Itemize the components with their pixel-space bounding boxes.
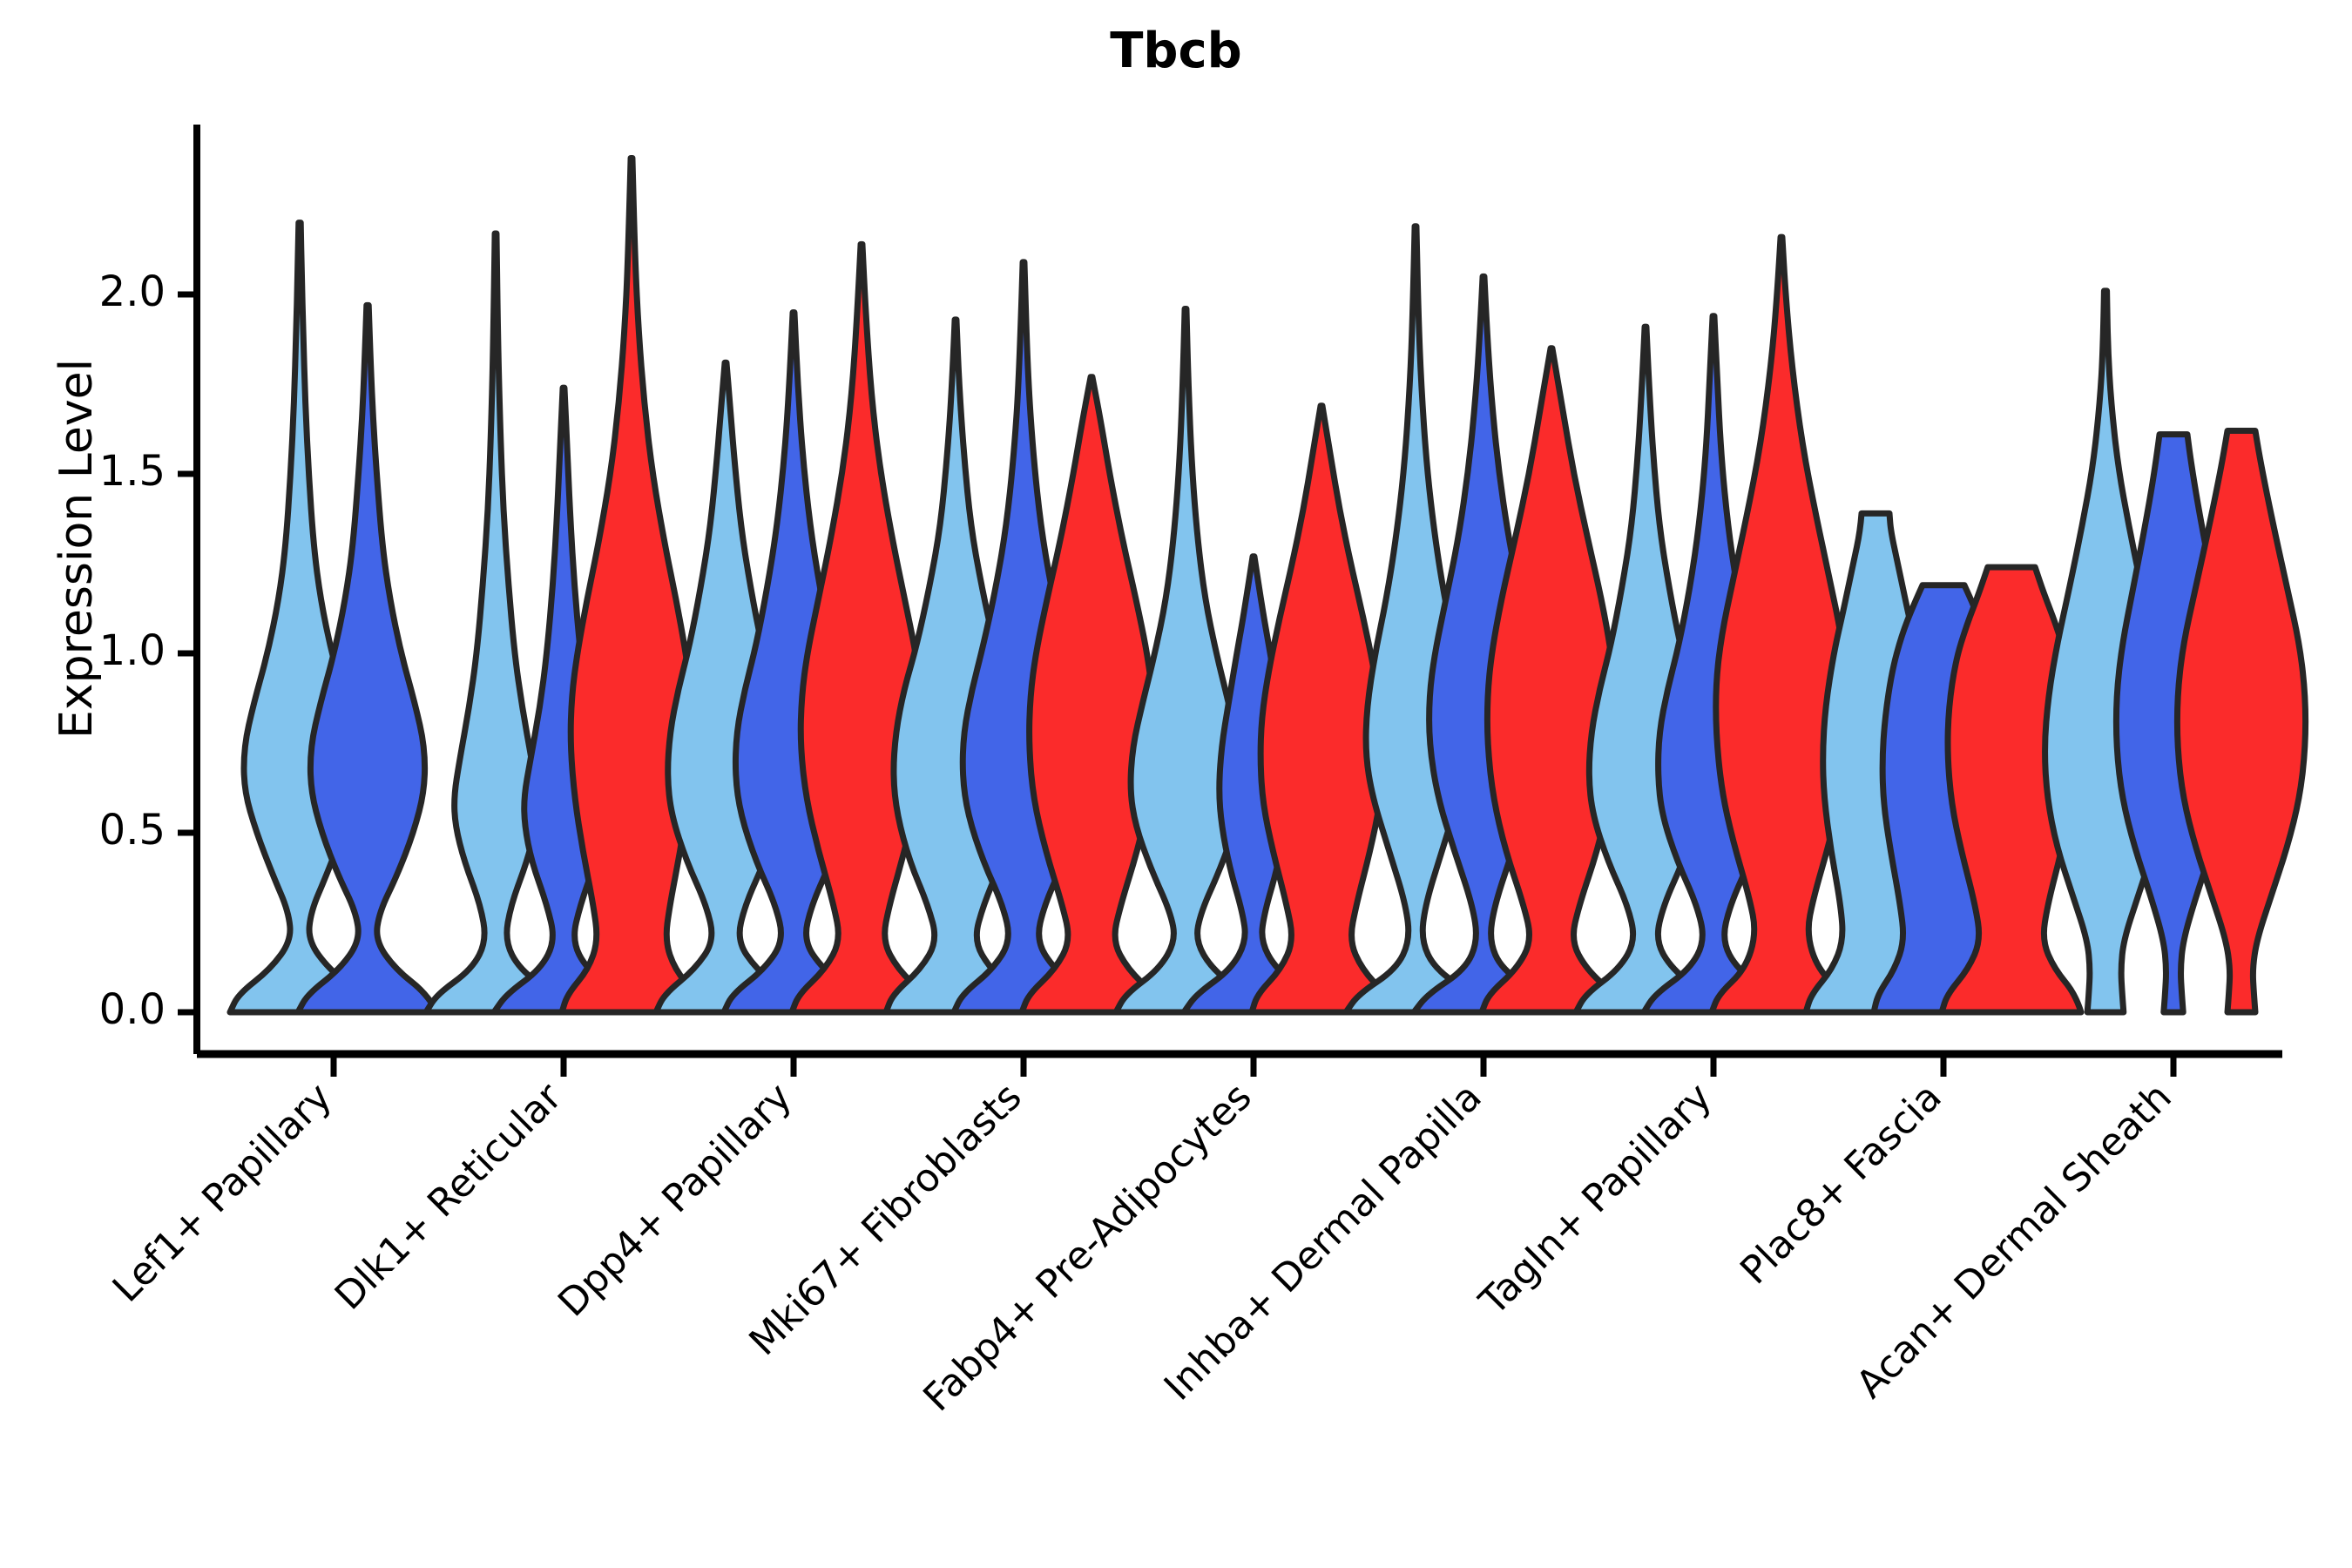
x-tick-label-1: Dlk1+ Reticular (327, 1074, 571, 1319)
violin-plot-figure: Tbcb Expression Level Lef1+ PapillaryDlk… (0, 0, 2352, 1568)
y-tick-label-1: 0.5 (99, 806, 166, 855)
y-tick-labels: 0.00.51.01.52.0 (99, 267, 166, 1034)
violins-layer (230, 158, 2306, 1012)
x-tick-label-2: Dpp4+ Papillary (550, 1075, 801, 1326)
x-tick-label-0: Lef1+ Papillary (105, 1075, 341, 1311)
y-tick-label-0: 0.0 (99, 985, 166, 1034)
chart-canvas: Lef1+ PapillaryDlk1+ ReticularDpp4+ Papi… (0, 0, 2352, 1568)
y-tick-label-3: 1.5 (99, 447, 166, 496)
x-tick-label-6: TagIn+ Papillary (1470, 1075, 1720, 1325)
x-tick-label-7: Plac8+ Fascia (1732, 1075, 1950, 1294)
x-tick-labels: Lef1+ PapillaryDlk1+ ReticularDpp4+ Papi… (105, 1074, 2180, 1420)
y-tick-label-4: 2.0 (99, 267, 166, 316)
y-tick-label-2: 1.0 (99, 626, 166, 675)
